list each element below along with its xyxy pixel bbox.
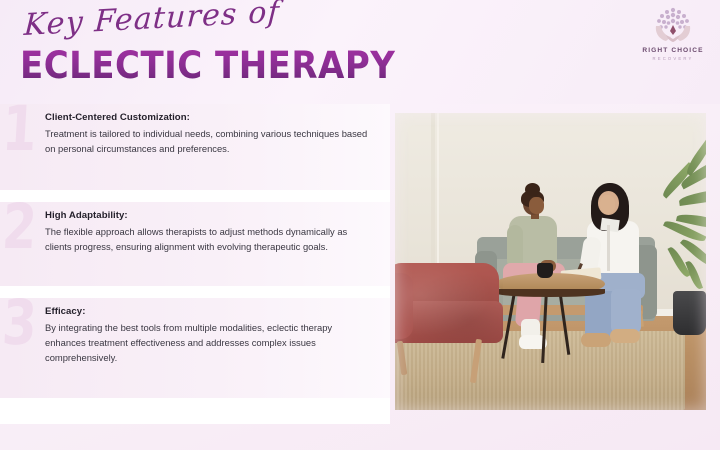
feature-number-watermark: 1: [1, 98, 39, 160]
red-armchair-velvet-texture: [395, 263, 503, 343]
client-hair-bun: [525, 183, 540, 196]
feature-item-3: 3 Efficacy: By integrating the best tool…: [0, 298, 390, 398]
therapist-collar: [600, 218, 619, 232]
feature-item-1: 1 Client-Centered Customization: Treatme…: [0, 104, 390, 190]
slide-header: Key Features of ECLECTIC THERAPY: [0, 0, 720, 104]
feature-text: Treatment is tailored to individual need…: [45, 126, 368, 156]
therapist-shirt-placket: [607, 225, 610, 271]
round-table-rim: [495, 289, 605, 297]
features-list: 1 Client-Centered Customization: Treatme…: [0, 104, 390, 436]
slide-canvas: Key Features of ECLECTIC THERAPY: [0, 0, 720, 450]
therapist-leg: [611, 289, 641, 333]
feature-number-watermark: 2: [1, 196, 39, 258]
feature-title: Client-Centered Customization:: [45, 112, 368, 123]
coffee-mug: [537, 263, 553, 278]
feature-list-footer-gap: [0, 398, 390, 424]
title-script: Key Features of: [23, 0, 281, 43]
feature-divider-1: [0, 190, 390, 202]
feature-text: By integrating the best tools from multi…: [45, 320, 368, 366]
feature-title: High Adaptability:: [45, 210, 368, 221]
client-face: [529, 197, 544, 214]
therapist-shoe: [581, 333, 611, 347]
plant-pot: [673, 291, 706, 335]
feature-title: Efficacy:: [45, 306, 368, 317]
brand-logo: RIGHT CHOICE RECOVERY: [636, 6, 710, 86]
therapist-shoe: [610, 329, 640, 343]
feature-divider-2: [0, 286, 390, 298]
page-title: ECLECTIC THERAPY: [20, 44, 395, 87]
logo-brand-name: RIGHT CHOICE: [636, 47, 710, 54]
therapist-face: [600, 195, 615, 214]
feature-text: The flexible approach allows therapists …: [45, 224, 368, 254]
therapy-session-photo: [395, 113, 706, 410]
feature-item-2: 2 High Adaptability: The flexible approa…: [0, 202, 390, 286]
logo-tagline: RECOVERY: [636, 56, 710, 61]
photo-scene: [395, 113, 706, 410]
feature-number-watermark: 3: [1, 292, 39, 354]
hands-holding-leaves-icon: [650, 6, 696, 46]
